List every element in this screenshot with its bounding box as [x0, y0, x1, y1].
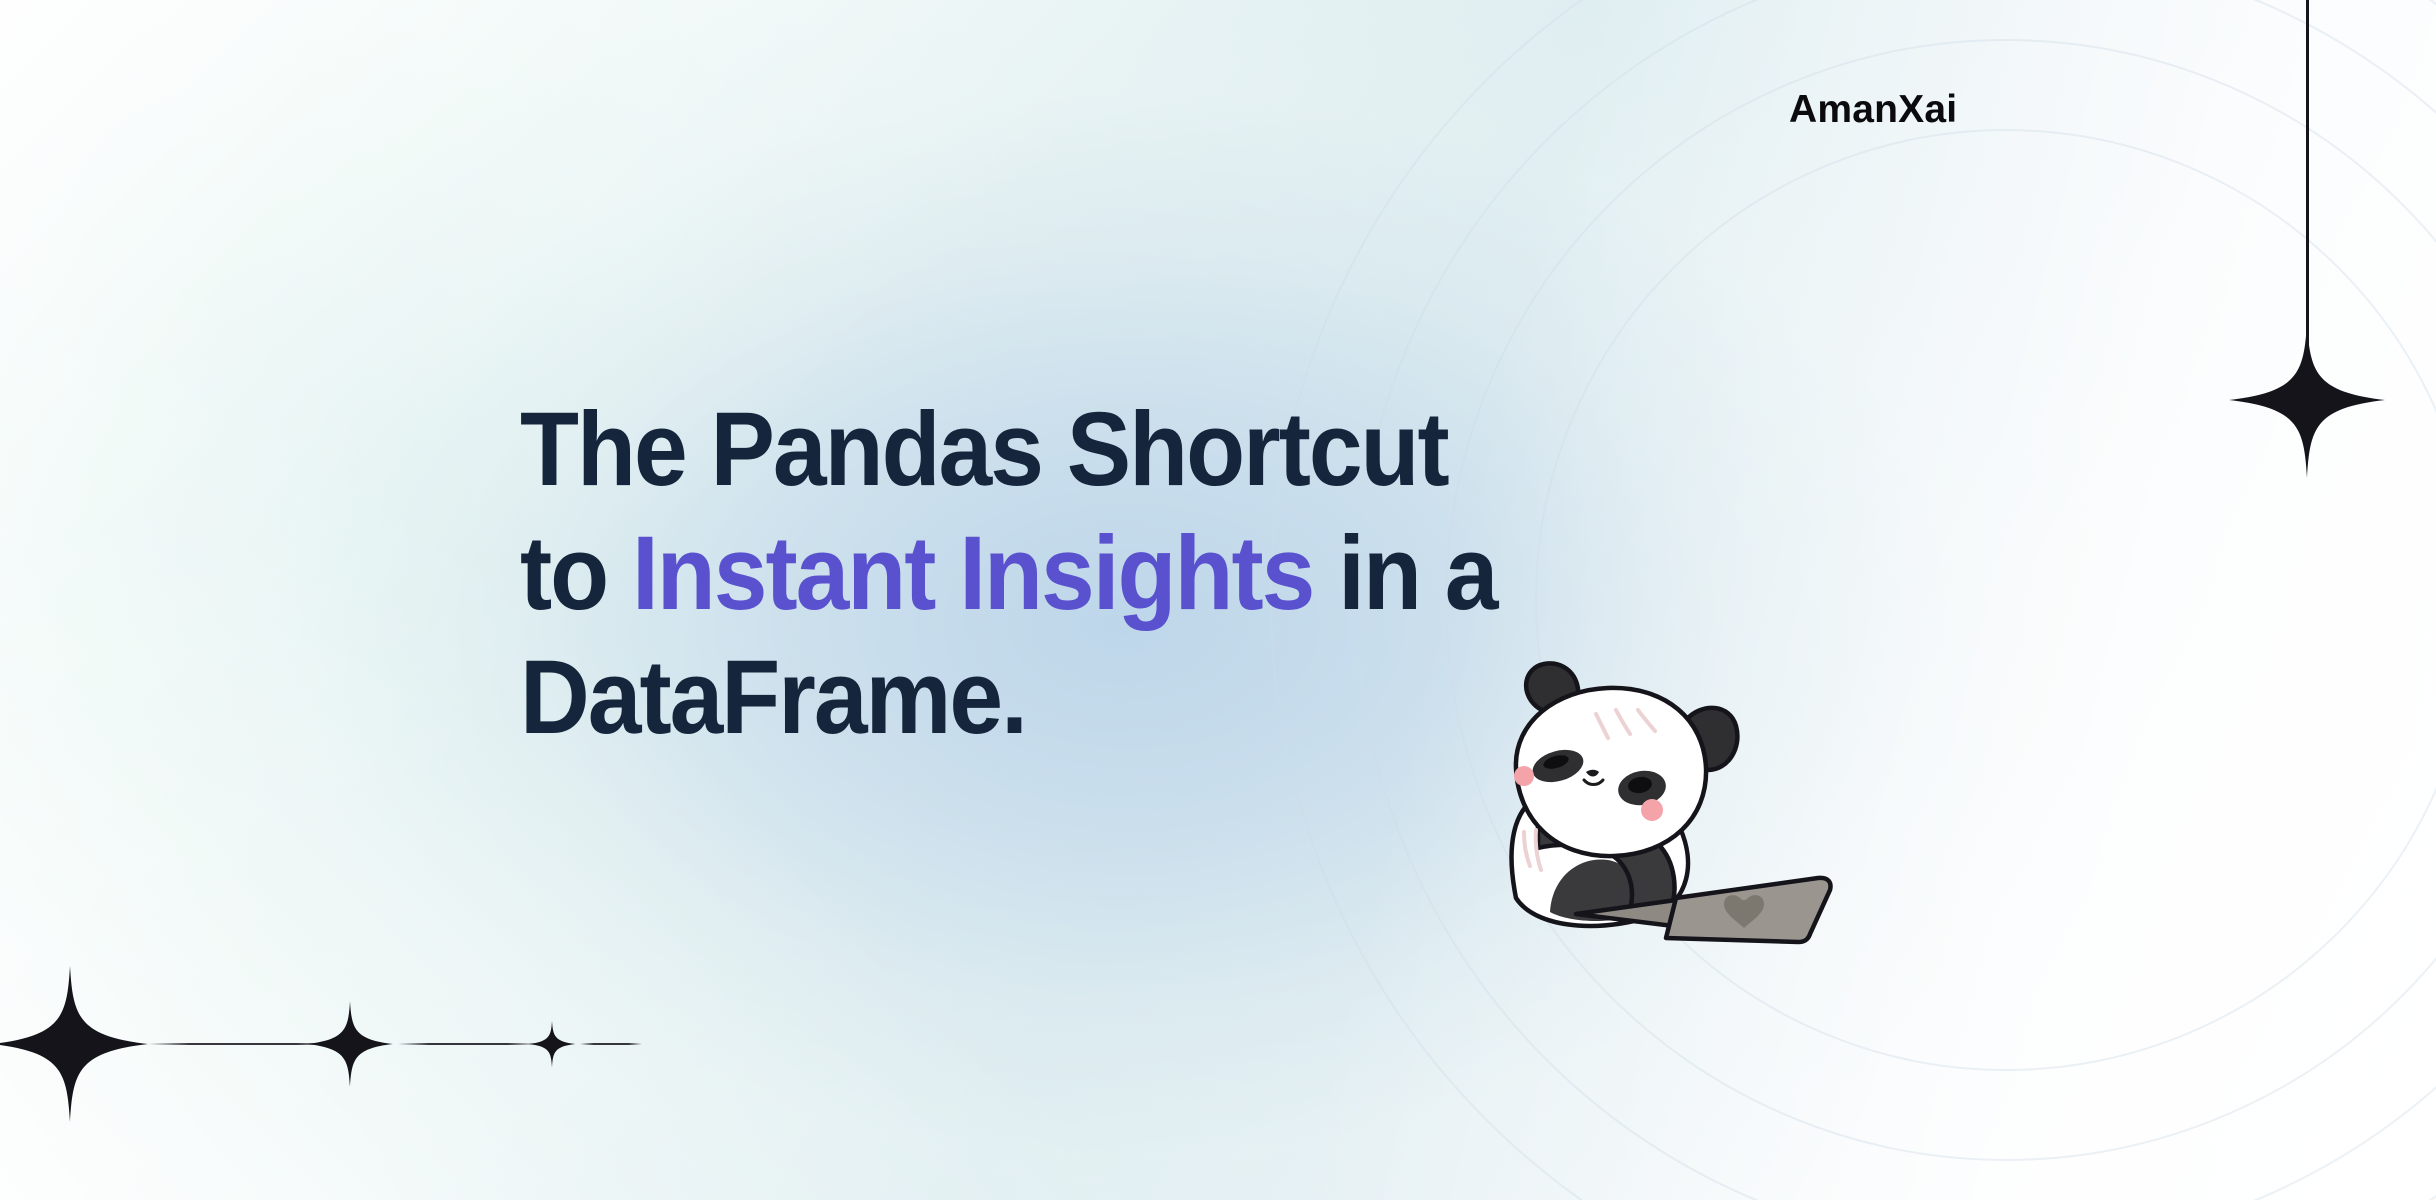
panda-with-laptop-illustration: [1480, 648, 1840, 968]
headline-line-2-suffix: in a: [1313, 515, 1496, 632]
headline-line-2-prefix: to: [520, 515, 632, 632]
sparkle-large-icon: [0, 964, 150, 1124]
headline-line-1: The Pandas Shortcut: [520, 388, 1808, 512]
sparkle-connector-line-2: [398, 1043, 538, 1045]
hanging-line: [2306, 0, 2309, 400]
sparkle-connector-line-3: [580, 1043, 642, 1045]
sparkle-connector-line-1: [148, 1043, 338, 1045]
headline-accent-text: Instant Insights: [632, 515, 1313, 632]
headline-line-2: to Instant Insights in a: [520, 512, 1808, 636]
cover-canvas: AmanXai The Pandas Shortcut to Instant I…: [0, 0, 2436, 1200]
brand-name: AmanXai: [1789, 88, 1957, 132]
